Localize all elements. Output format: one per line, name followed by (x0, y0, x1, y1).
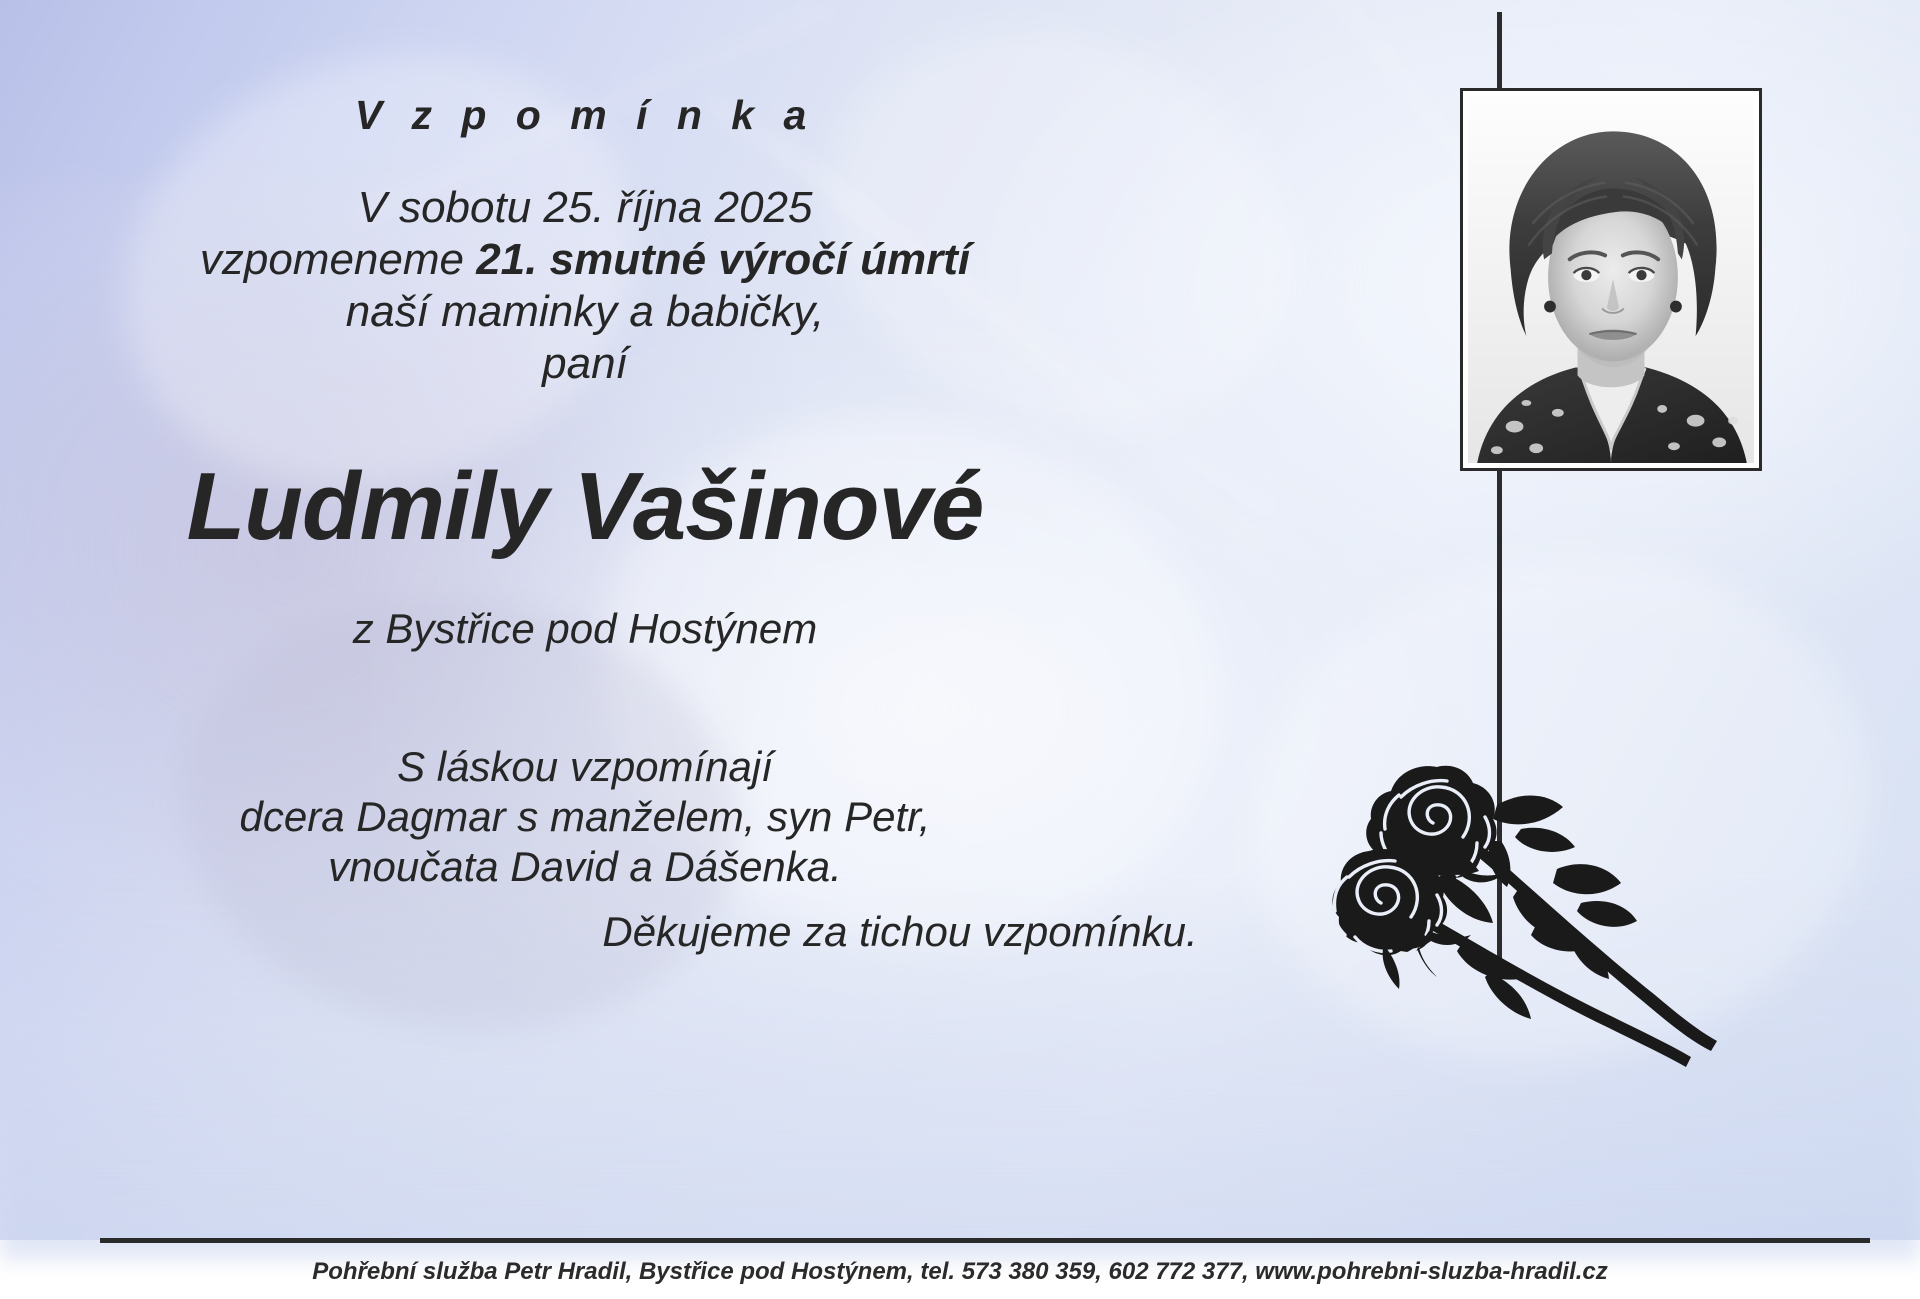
anniversary-emphasis: 21. smutné výročí úmrtí (476, 235, 970, 284)
mourners-line-1: S láskou vzpomínají (0, 742, 1170, 792)
announcement-line-1: V sobotu 25. října 2025 (0, 182, 1170, 234)
announcement-line-3: naší maminky a babičky, (0, 286, 1170, 338)
deceased-town: z Bystřice pod Hostýnem (0, 605, 1170, 653)
mourners-line-2: dcera Dagmar s manželem, syn Petr, (0, 792, 1170, 842)
text-layer: V z p o m í n k a V sobotu 25. října 202… (0, 0, 1920, 1299)
announcement-block: V sobotu 25. října 2025 vzpomeneme 21. s… (0, 182, 1170, 390)
announcement-line-4: paní (0, 338, 1170, 390)
closing-thanks: Děkujeme za tichou vzpomínku. (430, 908, 1370, 956)
mourners-block: S láskou vzpomínají dcera Dagmar s manže… (0, 742, 1170, 892)
deceased-name: Ludmily Vašinové (0, 452, 1170, 562)
mourners-line-3: vnoučata David a Dášenka. (0, 842, 1170, 892)
announcement-line-2: vzpomeneme 21. smutné výročí úmrtí (0, 234, 1170, 286)
memorial-card: V z p o m í n k a V sobotu 25. října 202… (0, 0, 1920, 1299)
announcement-line-2-prefix: vzpomeneme (200, 235, 476, 284)
funeral-service-footer: Pohřební služba Petr Hradil, Bystřice po… (0, 1258, 1920, 1286)
page-title: V z p o m í n k a (0, 92, 1170, 139)
